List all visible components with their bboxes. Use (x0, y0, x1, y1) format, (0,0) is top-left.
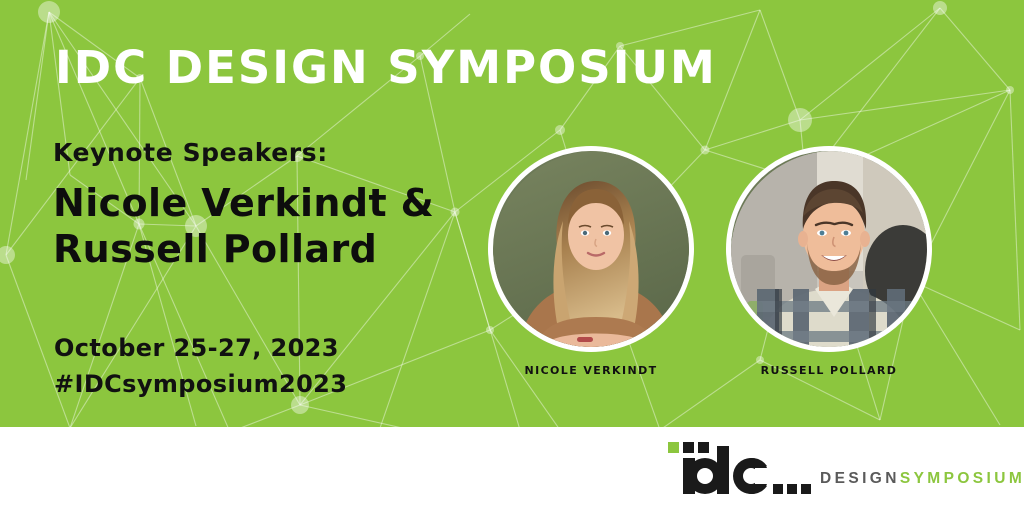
event-hashtag: #IDCsymposium2023 (54, 366, 347, 402)
event-banner: IDC DESIGN SYMPOSIUM Keynote Speakers: N… (0, 0, 1024, 512)
speaker-photo-nicole (493, 151, 689, 347)
avatar (488, 146, 694, 352)
speaker-card: RUSSELL POLLARD (726, 146, 932, 377)
logo-tagline: DESIGNSYMPOSIUM (820, 470, 1024, 488)
speaker-names-heading: Nicole Verkindt & Russell Pollard (53, 180, 434, 272)
logo-design-text: DESIGN (820, 470, 900, 487)
keynote-speakers-label: Keynote Speakers: (53, 138, 328, 167)
logo-symposium-text: SYMPOSIUM (900, 470, 1024, 487)
event-date: October 25-27, 2023 (54, 330, 347, 366)
logo-bar: DESIGNSYMPOSIUM (0, 427, 1024, 512)
speaker-name-line-1: Nicole Verkindt & (53, 180, 434, 226)
idc-wordmark-icon (655, 440, 815, 498)
hero-text-column: IDC DESIGN SYMPOSIUM Keynote Speakers: N… (55, 0, 515, 427)
avatar (726, 146, 932, 352)
speaker-name-caption: RUSSELL POLLARD (726, 364, 932, 377)
event-details: October 25-27, 2023 #IDCsymposium2023 (54, 330, 347, 402)
hero-section: IDC DESIGN SYMPOSIUM Keynote Speakers: N… (0, 0, 1024, 427)
page-title: IDC DESIGN SYMPOSIUM (55, 41, 717, 94)
speaker-name-caption: NICOLE VERKINDT (488, 364, 694, 377)
speaker-card: NICOLE VERKINDT (488, 146, 694, 377)
speaker-photo-russell (731, 151, 927, 347)
speaker-name-line-2: Russell Pollard (53, 226, 434, 272)
